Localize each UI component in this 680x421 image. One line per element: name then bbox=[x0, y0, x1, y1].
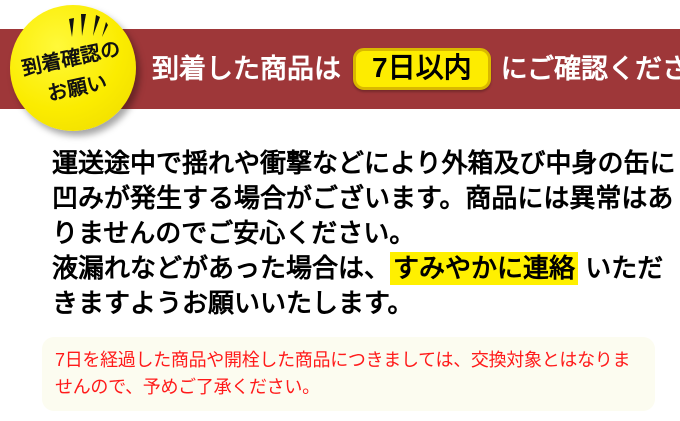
stamp-badge: 到着確認の お願い bbox=[10, 5, 136, 131]
body-line: きますようお願いいたします。 bbox=[52, 286, 662, 321]
body-line: りませんのでご安心ください。 bbox=[52, 216, 662, 251]
header-tail-text: にご確認ください。 bbox=[501, 56, 680, 83]
stamp-text-group: 到着確認の お願い bbox=[0, 0, 148, 143]
note-line: せんので、予めご了承ください。 bbox=[55, 374, 655, 401]
deadline-badge: 7日以内 bbox=[353, 48, 491, 90]
body-paragraph: 運送途中で揺れや衝撃などにより外箱及び中身の缶に凹みが発生する場合がございます。… bbox=[52, 146, 662, 321]
highlighted-phrase: すみやかに連絡 bbox=[390, 252, 578, 285]
body-text-segment: いただ bbox=[578, 253, 663, 283]
note-line: 7日を経過した商品や開栓した商品につきましては、交換対象とはなりま bbox=[55, 347, 655, 374]
header-lead-text: 到着した商品は bbox=[152, 56, 341, 83]
body-text-segment: りませんのでご安心ください。 bbox=[52, 218, 415, 248]
body-text-segment: 運送途中で揺れや衝撃などにより外箱及び中身の缶に bbox=[52, 148, 675, 178]
body-text-segment: きますようお願いいたします。 bbox=[52, 288, 413, 318]
body-line: 運送途中で揺れや衝撃などにより外箱及び中身の缶に bbox=[52, 146, 662, 181]
body-line: 液漏れなどがあった場合は、すみやかに連絡 いただ bbox=[52, 251, 662, 286]
arrival-confirmation-notice: 到着した商品は 7日以内 にご確認ください。 到着確認の お願い 運送途中で揺れ… bbox=[0, 0, 680, 421]
body-text-segment: 液漏れなどがあった場合は、 bbox=[52, 253, 390, 283]
note-text-group: 7日を経過した商品や開栓した商品につきましては、交換対象とはなりませんので、予め… bbox=[55, 347, 655, 401]
body-line: 凹みが発生する場合がございます。商品には異常はあ bbox=[52, 181, 662, 216]
exchange-policy-note: 7日を経過した商品や開栓した商品につきましては、交換対象とはなりませんので、予め… bbox=[42, 337, 655, 411]
header-message: 到着した商品は 7日以内 にご確認ください。 bbox=[152, 29, 680, 109]
body-text-segment: 凹みが発生する場合がございます。商品には異常はあ bbox=[52, 183, 673, 213]
